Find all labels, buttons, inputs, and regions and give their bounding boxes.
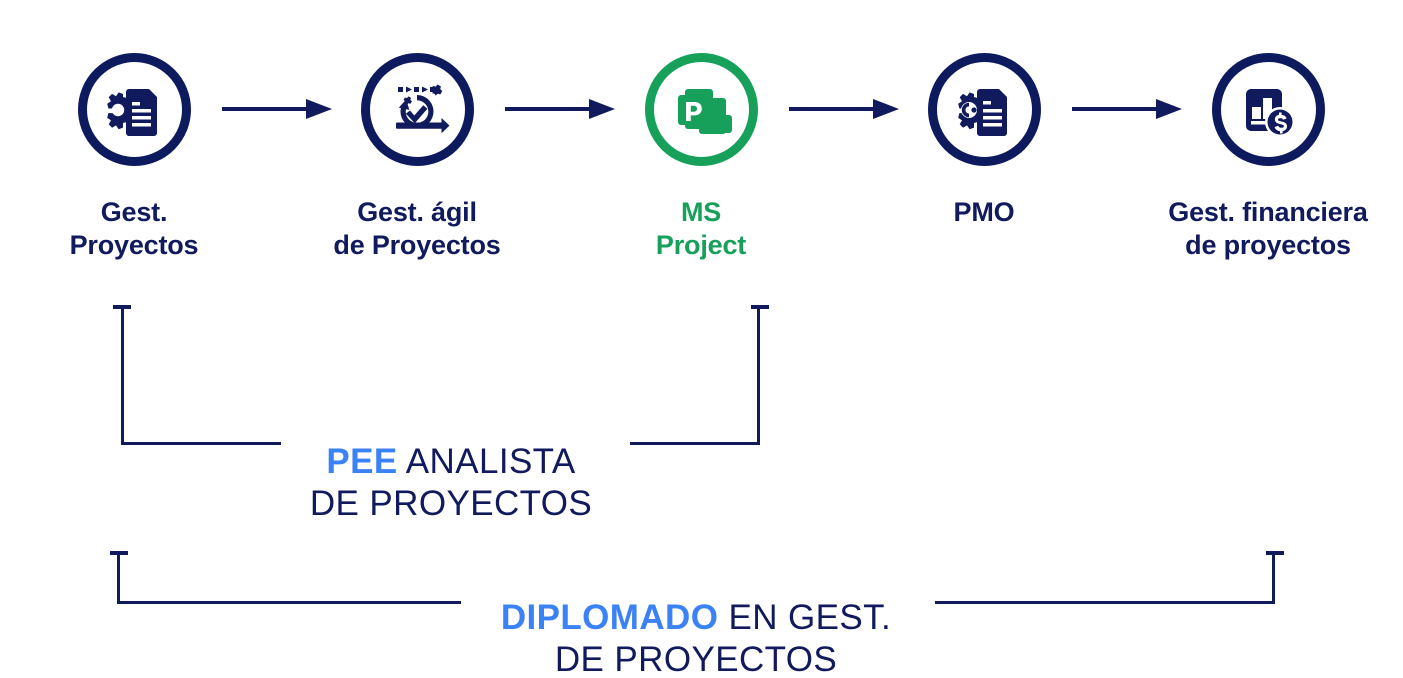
step-label: Gest. ágil de Proyectos [302, 196, 532, 262]
step-icon-circle [928, 53, 1041, 166]
step-icon-circle [645, 53, 758, 166]
step-label: PMO [869, 196, 1099, 229]
step-gest-agil[interactable]: Gest. ágil de Proyectos [302, 53, 532, 262]
bracket-pee-right-tick [751, 305, 769, 309]
step-icon-circle [1212, 53, 1325, 166]
step-pmo[interactable]: PMO [869, 53, 1099, 229]
step-gest-financiera[interactable]: Gest. financiera de proyectos [1153, 53, 1383, 262]
bracket-diplomado-right-stem [1272, 551, 1275, 604]
step-icon-circle [361, 53, 474, 166]
bracket-diplomado-left-stem [117, 551, 120, 604]
gear-document-icon [99, 75, 169, 145]
bracket-pee-left-stem [121, 305, 124, 445]
step-ms-project[interactable]: MS Project [586, 53, 816, 262]
bracket-pee-caption: PEE ANALISTA DE PROYECTOS [181, 400, 721, 524]
step-icon-circle [78, 53, 191, 166]
bracket-diplomado-right-tick [1266, 551, 1284, 555]
agile-cycle-icon [381, 74, 453, 146]
gear-document-pmo-icon [949, 75, 1019, 145]
program-pathway-diagram: Gest. Proyectos [0, 0, 1403, 678]
step-label: MS Project [586, 196, 816, 262]
ms-project-logo-icon [669, 79, 733, 141]
step-label: Gest. financiera de proyectos [1153, 196, 1383, 262]
document-dollar-icon [1235, 77, 1301, 143]
bracket-diplomado-highlight: DIPLOMADO [501, 598, 718, 637]
bracket-diplomado-caption: DIPLOMADO EN GEST. DE PROYECTOS [396, 556, 996, 678]
step-label: Gest. Proyectos [19, 196, 249, 262]
bracket-pee-right-stem [757, 305, 760, 445]
bracket-pee-highlight: PEE [326, 442, 397, 481]
step-gest-proyectos[interactable]: Gest. Proyectos [19, 53, 249, 262]
